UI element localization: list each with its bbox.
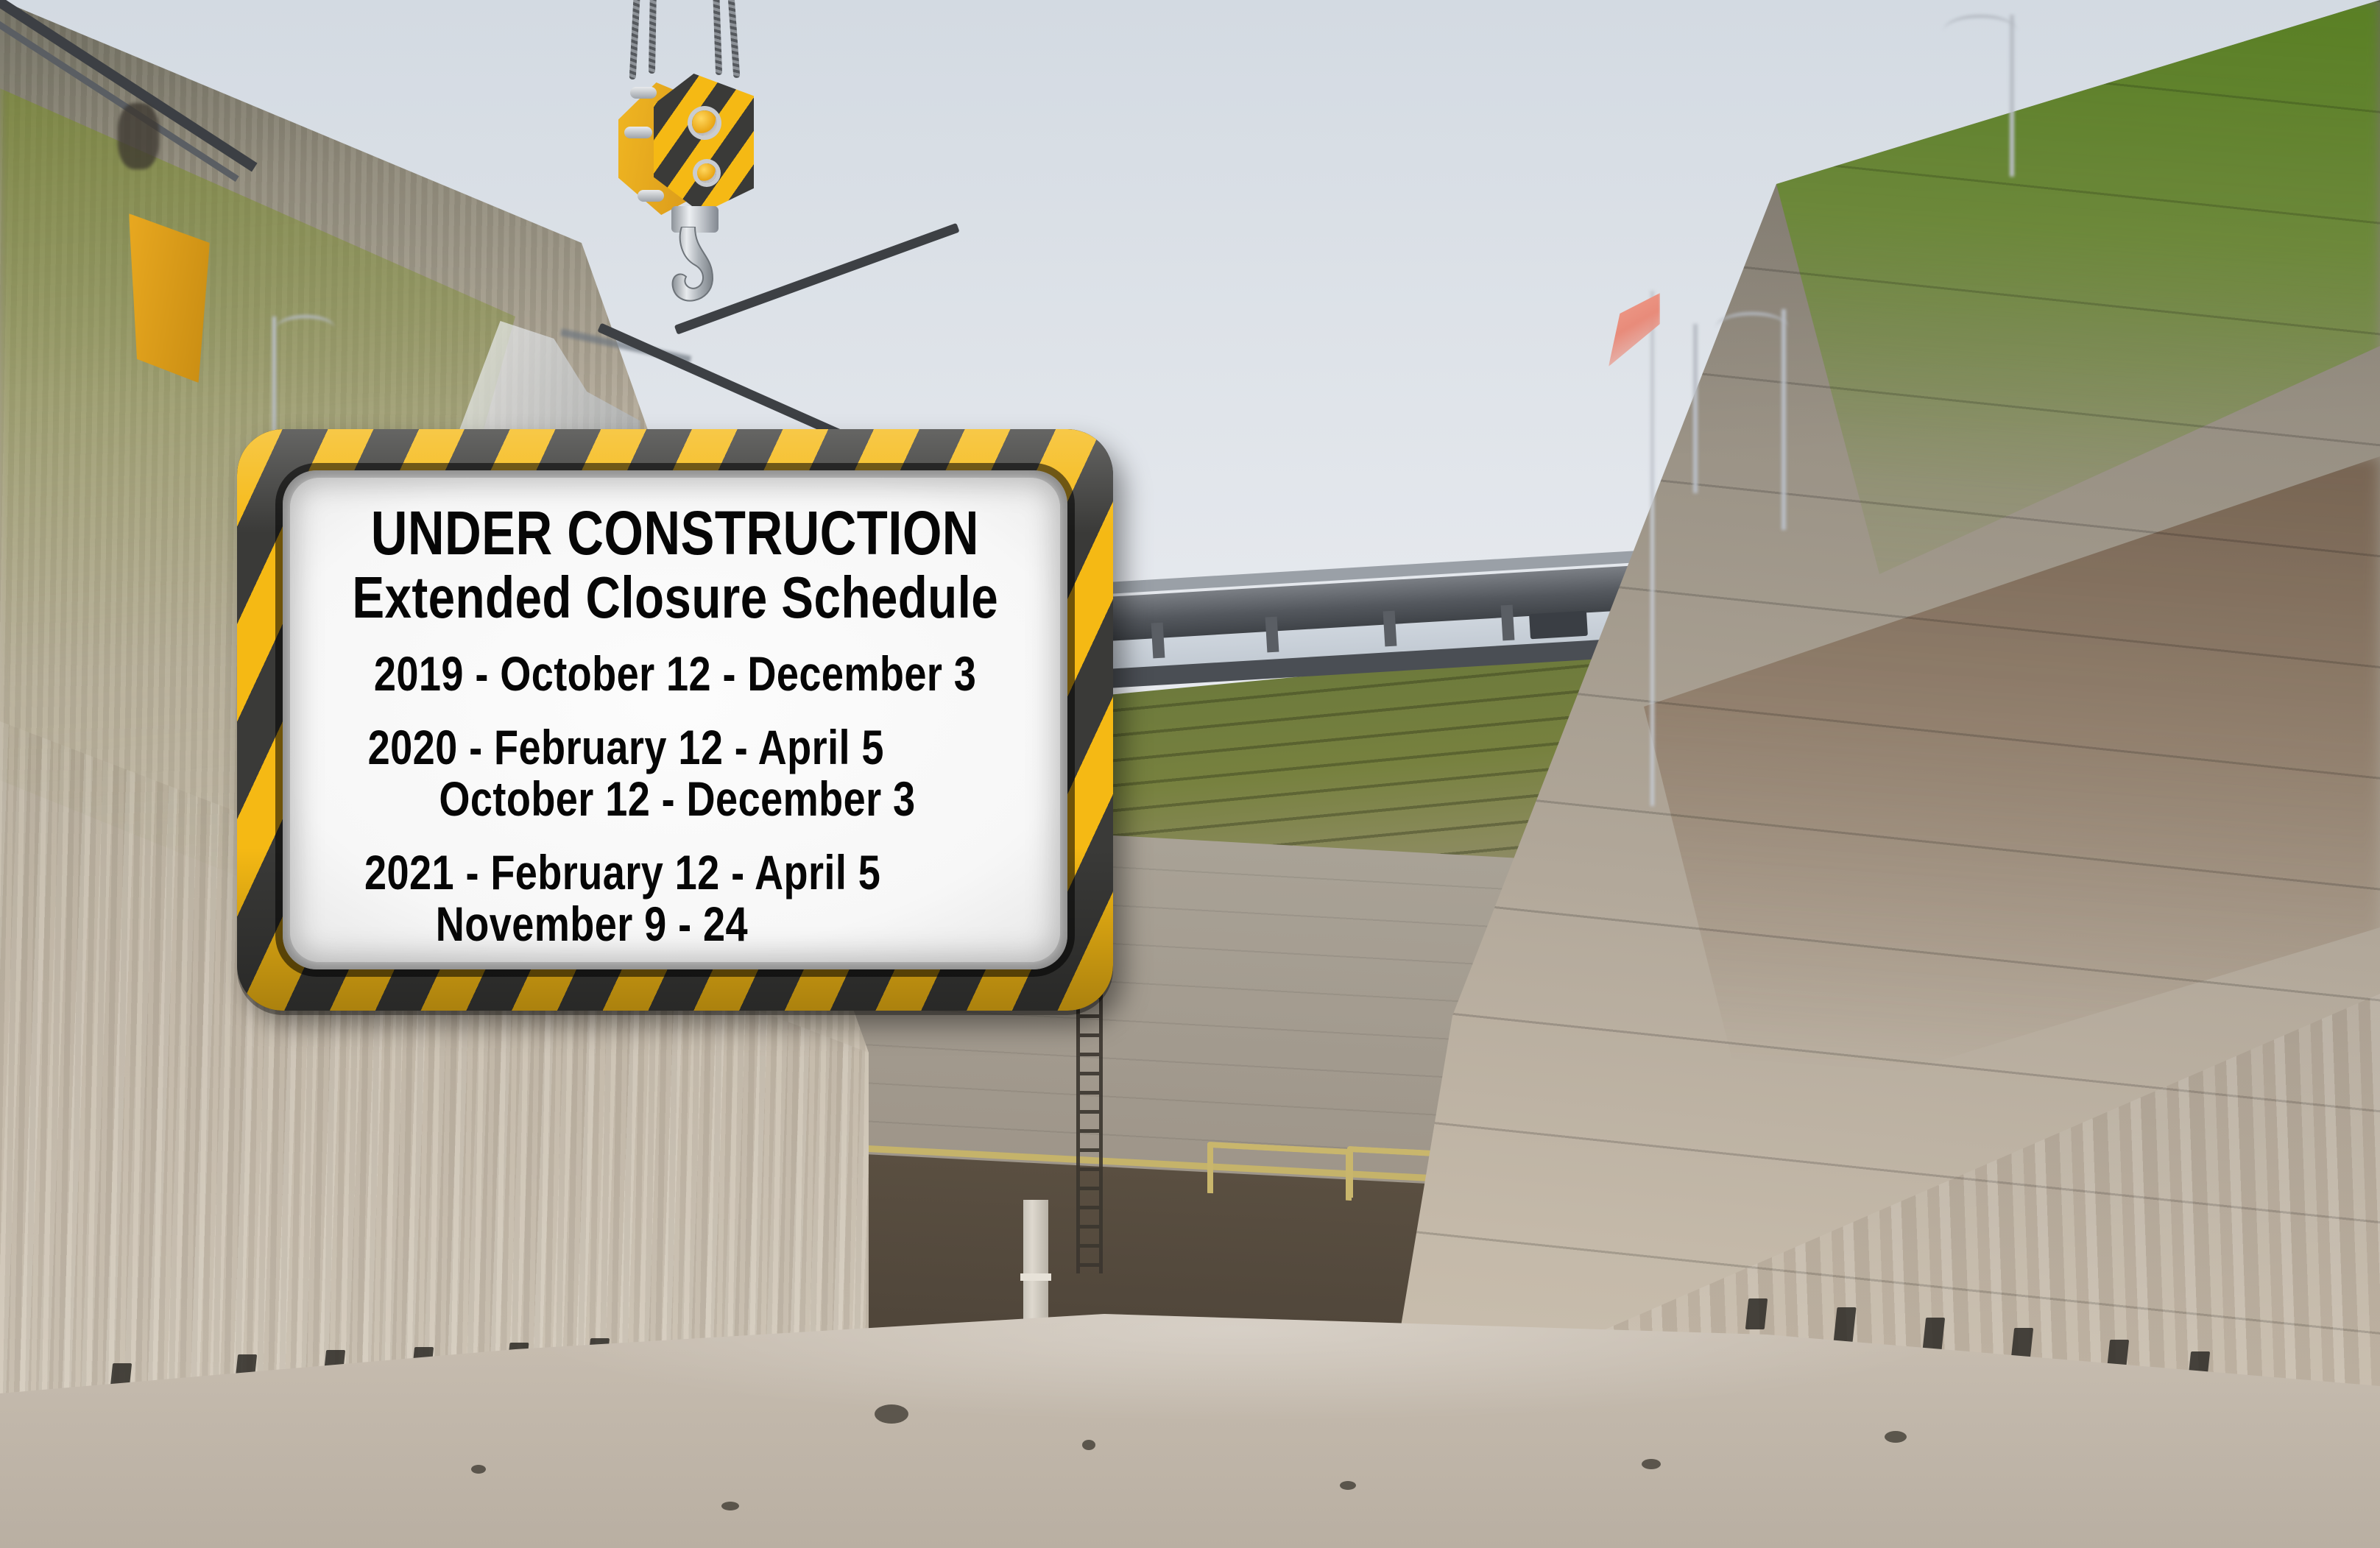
floor-debris <box>471 1465 486 1474</box>
schedule-group-2019: 2019 - October 12 - December 3 <box>308 648 1042 700</box>
hoist-cable-right-2 <box>727 0 741 78</box>
crane-pulley <box>118 103 159 169</box>
floor-debris <box>1340 1481 1356 1490</box>
hook-block-pin-top <box>630 87 657 99</box>
light-pole <box>1693 324 1698 493</box>
schedule-group-2020: 2020 - February 12 - April 5 October 12 … <box>308 722 975 825</box>
hook-block-pin-bottom <box>638 190 664 202</box>
railing-segment <box>1207 1142 1352 1201</box>
closure-schedule-list: 2019 - October 12 - December 3 2020 - Fe… <box>308 648 1042 950</box>
hoist-cable-left-2 <box>649 0 657 74</box>
floor-debris <box>1642 1459 1661 1469</box>
floor-debris <box>875 1404 908 1424</box>
post-band <box>1020 1273 1051 1281</box>
lamp-arm <box>1943 15 2017 47</box>
crane-body <box>129 213 210 383</box>
floor-debris <box>721 1502 739 1510</box>
hoist-cable-left <box>629 0 641 79</box>
under-construction-sign[interactable]: UNDER CONSTRUCTION Extended Closure Sche… <box>237 429 1113 1011</box>
bridge-pier <box>1383 611 1397 647</box>
crane-hook-assembly <box>589 0 898 405</box>
hook-block-bolt-lower <box>697 163 716 183</box>
schedule-row: 2019 - October 12 - December 3 <box>374 648 976 700</box>
floor-debris <box>1082 1440 1095 1450</box>
flag-pole <box>1650 291 1654 806</box>
schedule-group-2021: 2021 - February 12 - April 5 November 9 … <box>308 847 937 950</box>
bridge-pier <box>1265 617 1279 653</box>
sign-message-panel: UNDER CONSTRUCTION Extended Closure Sche… <box>290 478 1060 962</box>
lamp-arm <box>1715 312 1789 344</box>
schedule-row: 2021 - February 12 - April 5 <box>364 847 880 899</box>
floor-debris <box>1885 1431 1907 1443</box>
hoist-cable-right <box>713 0 722 75</box>
sign-title: UNDER CONSTRUCTION <box>371 501 979 565</box>
schedule-row: 2020 - February 12 - April 5 <box>368 722 916 774</box>
screenshot-canvas: UNDER CONSTRUCTION Extended Closure Sche… <box>0 0 2380 1548</box>
sign-subtitle: Extended Closure Schedule <box>352 567 998 629</box>
crane-hook-icon <box>652 227 746 344</box>
bridge-pier <box>1151 623 1165 659</box>
hook-block-bolt-upper <box>692 110 717 135</box>
hook-block-pin-mid <box>624 127 652 138</box>
lamp-arm <box>276 315 335 342</box>
schedule-row: October 12 - December 3 <box>368 774 916 825</box>
bridge-pier <box>1501 605 1515 641</box>
schedule-row: November 9 - 24 <box>364 899 880 950</box>
vehicle-on-bridge <box>1529 611 1588 640</box>
